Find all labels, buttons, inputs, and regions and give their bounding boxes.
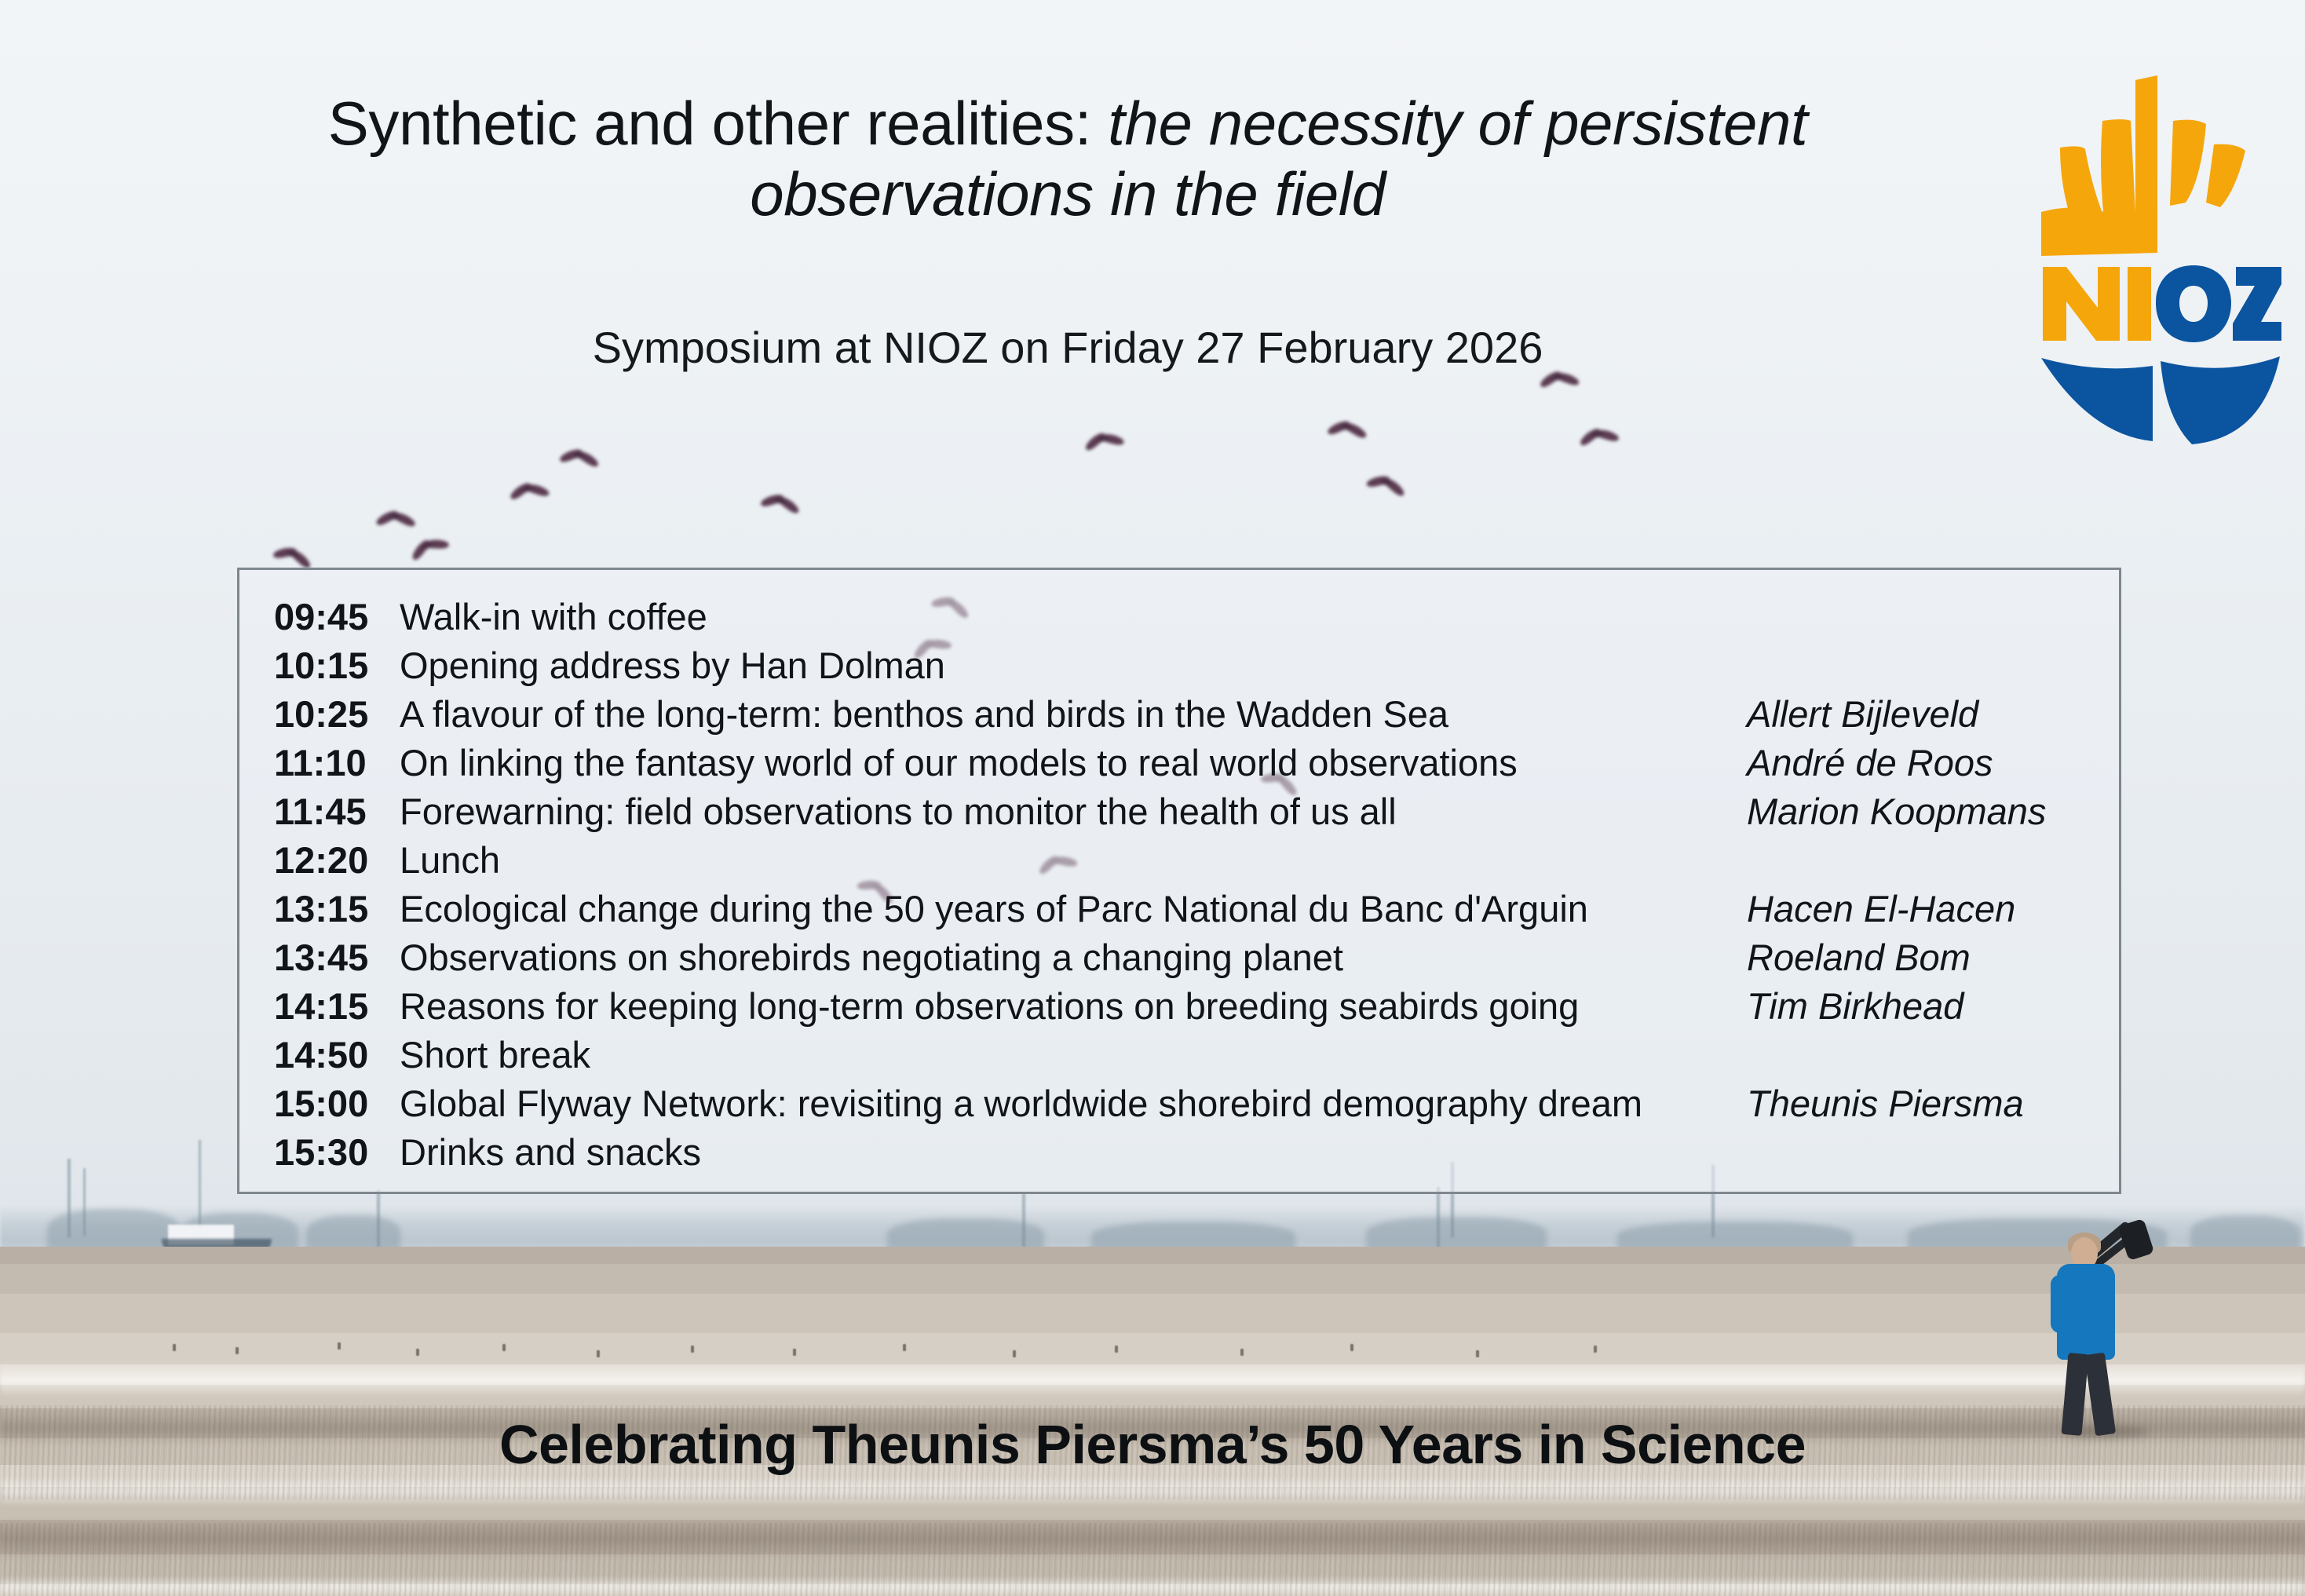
session-description: Opening address by Han Dolman: [400, 641, 1747, 689]
session-time: 13:45: [274, 933, 400, 981]
programme-box: 09:45Walk-in with coffee10:15Opening add…: [237, 568, 2121, 1194]
wet-sand-sheen: [0, 1363, 2305, 1397]
session-description: Lunch: [400, 835, 1747, 884]
distant-wading-bird: [903, 1344, 906, 1351]
session-speaker: Roeland Bom: [1747, 933, 2084, 981]
session-speaker: Allert Bijleveld: [1747, 689, 2084, 738]
table-row: 13:45Observations on shorebirds negotiat…: [274, 933, 2084, 981]
jacket-sleeve: [2051, 1275, 2071, 1333]
session-description: Walk-in with coffee: [400, 592, 1747, 641]
table-row: 15:00Global Flyway Network: revisiting a…: [274, 1079, 2084, 1127]
logo-wordmark-ni: [2043, 267, 2151, 341]
distant-windmill: [68, 1159, 71, 1237]
session-speaker: Theunis Piersma: [1747, 1079, 2084, 1127]
table-row: 11:45Forewarning: field observations to …: [274, 787, 2084, 835]
session-speaker: Tim Birkhead: [1747, 981, 2084, 1030]
distant-wading-bird: [236, 1347, 239, 1354]
table-row: 13:15Ecological change during the 50 yea…: [274, 884, 2084, 933]
distant-wading-bird: [338, 1342, 341, 1349]
distant-wading-bird: [416, 1349, 419, 1356]
session-speaker: [1747, 1127, 2084, 1176]
session-description: Drinks and snacks: [400, 1127, 1747, 1176]
logo-hull: [2041, 356, 2280, 444]
session-time: 15:30: [274, 1127, 400, 1176]
table-row: 11:10On linking the fantasy world of our…: [274, 738, 2084, 787]
distant-wading-bird: [691, 1346, 694, 1353]
flying-bird: [1326, 418, 1372, 441]
session-time: 11:45: [274, 787, 400, 835]
session-speaker: [1747, 641, 2084, 689]
session-speaker: [1747, 1030, 2084, 1079]
distant-crane: [1022, 1193, 1025, 1248]
distant-wading-bird: [1013, 1350, 1016, 1357]
session-time: 13:15: [274, 884, 400, 933]
session-speaker: [1747, 592, 2084, 641]
distant-crane: [1437, 1187, 1440, 1248]
distant-wading-bird: [1594, 1346, 1597, 1353]
distant-wading-bird: [597, 1350, 600, 1357]
distant-wading-bird: [1350, 1344, 1353, 1351]
table-row: 15:30Drinks and snacks: [274, 1127, 2084, 1176]
table-row: 10:25A flavour of the long-term: benthos…: [274, 689, 2084, 738]
session-speaker: Marion Koopmans: [1747, 787, 2084, 835]
session-description: Global Flyway Network: revisiting a worl…: [400, 1079, 1747, 1127]
logo-crown-rays: [2041, 75, 2245, 256]
session-description: Short break: [400, 1030, 1747, 1079]
session-time: 14:50: [274, 1030, 400, 1079]
session-speaker: [1747, 835, 2084, 884]
distant-crane: [377, 1190, 380, 1248]
session-time: 14:15: [274, 981, 400, 1030]
distant-wading-bird: [1476, 1350, 1479, 1357]
table-row: 09:45Walk-in with coffee: [274, 592, 2084, 641]
symposium-poster: Synthetic and other realities: the neces…: [0, 0, 2305, 1596]
session-time: 11:10: [274, 738, 400, 787]
session-time: 15:00: [274, 1079, 400, 1127]
table-row: 10:15Opening address by Han Dolman: [274, 641, 2084, 689]
session-description: On linking the fantasy world of our mode…: [400, 738, 1747, 787]
nioz-logo[interactable]: [2035, 49, 2286, 449]
session-description: Observations on shorebirds negotiating a…: [400, 933, 1747, 981]
poster-title: Synthetic and other realities: the neces…: [259, 88, 1876, 230]
boat-mast: [199, 1140, 201, 1234]
session-description: Ecological change during the 50 years of…: [400, 884, 1747, 933]
logo-wordmark-oz: [2156, 265, 2281, 342]
distant-wading-bird: [173, 1344, 176, 1351]
flying-bird: [375, 509, 419, 529]
programme-table: 09:45Walk-in with coffee10:15Opening add…: [274, 592, 2084, 1176]
table-row: 14:50Short break: [274, 1030, 2084, 1079]
session-description: Forewarning: field observations to monit…: [400, 787, 1747, 835]
programme-rows: 09:45Walk-in with coffee10:15Opening add…: [274, 592, 2084, 1176]
session-time: 09:45: [274, 592, 400, 641]
boat-mast: [83, 1168, 86, 1236]
poster-footer: Celebrating Theunis Piersma’s 50 Years i…: [0, 1413, 2305, 1476]
table-row: 12:20Lunch: [274, 835, 2084, 884]
session-speaker: Hacen El-Hacen: [1747, 884, 2084, 933]
distant-wading-bird: [502, 1344, 506, 1351]
session-time: 12:20: [274, 835, 400, 884]
session-time: 10:25: [274, 689, 400, 738]
session-time: 10:15: [274, 641, 400, 689]
telescope-head: [2118, 1218, 2155, 1261]
session-description: Reasons for keeping long-term observatio…: [400, 981, 1747, 1030]
distant-wading-bird: [1240, 1349, 1244, 1356]
title-roman: Synthetic and other realities:: [328, 89, 1091, 158]
poster-subtitle: Symposium at NIOZ on Friday 27 February …: [259, 322, 1876, 373]
table-row: 14:15Reasons for keeping long-term obser…: [274, 981, 2084, 1030]
session-speaker: André de Roos: [1747, 738, 2084, 787]
distant-wading-bird: [793, 1349, 796, 1356]
session-description: A flavour of the long-term: benthos and …: [400, 689, 1747, 738]
sand-texture: [0, 1523, 2305, 1596]
distant-wading-bird: [1115, 1346, 1118, 1353]
